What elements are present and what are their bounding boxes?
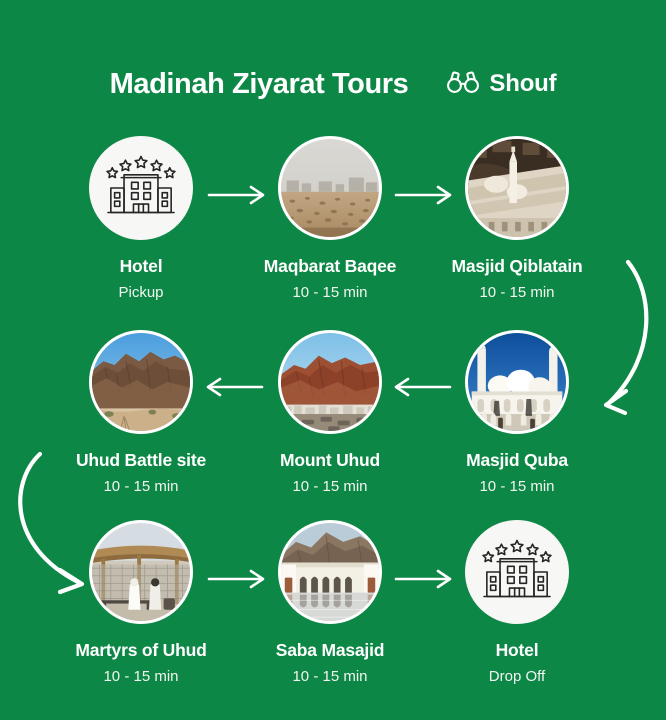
mountain-desert-photo	[89, 330, 193, 434]
tour-stop-label: Saba Masajid	[276, 640, 384, 661]
mosque-aerial-photo	[465, 136, 569, 240]
canopy-shelter-photo	[89, 520, 193, 624]
tour-stop-label: Masjid Qiblatain	[452, 256, 583, 277]
brand-name: Shouf	[489, 70, 556, 98]
arrow-right-row3-2	[392, 567, 458, 591]
tour-stop-duration: Drop Off	[489, 668, 545, 685]
arrow-left-row2-2	[388, 375, 454, 399]
tour-stop[interactable]: Masjid Qiblatain 10 - 15 min	[424, 136, 610, 306]
arrow-curve-row2-to-row3	[2, 450, 102, 600]
tour-stop[interactable]: Masjid Quba 10 - 15 min	[424, 330, 610, 500]
tour-stop-duration: 10 - 15 min	[292, 668, 367, 685]
arrow-left-row2-1	[200, 375, 266, 399]
tour-row-1: Hotel Pickup	[0, 136, 666, 306]
tour-stop[interactable]: Maqbarat Baqee 10 - 15 min	[237, 136, 423, 306]
white-mosque-photo	[465, 330, 569, 434]
arrow-right-row1-1	[205, 183, 271, 207]
tour-stop-label: Hotel	[496, 640, 539, 661]
tour-stop-duration: 10 - 15 min	[103, 668, 178, 685]
header: Madinah Ziyarat Tours Shouf	[0, 58, 666, 110]
tour-stop-label: Maqbarat Baqee	[264, 256, 396, 277]
tour-stop-duration: Pickup	[118, 284, 163, 301]
hotel-stars-icon	[89, 136, 193, 240]
tour-stop[interactable]: Saba Masajid 10 - 15 min	[237, 520, 423, 690]
tour-stop-label: Masjid Quba	[466, 450, 568, 471]
brand-logo: Shouf	[446, 70, 556, 99]
arrow-curve-row1-to-row2	[592, 258, 666, 416]
arcade-mosque-photo	[278, 520, 382, 624]
cemetery-photo	[278, 136, 382, 240]
tour-stop[interactable]: Hotel Drop Off	[424, 520, 610, 690]
tour-stop-duration: 10 - 15 min	[103, 478, 178, 495]
arrow-right-row3-1	[205, 567, 271, 591]
tour-stop-duration: 10 - 15 min	[292, 284, 367, 301]
binoculars-icon	[446, 70, 480, 99]
tour-stop-duration: 10 - 15 min	[292, 478, 367, 495]
tour-stop-label: Hotel	[120, 256, 163, 277]
page-title: Madinah Ziyarat Tours	[110, 68, 409, 101]
tour-stop[interactable]: Hotel Pickup	[48, 136, 234, 306]
tour-stop-duration: 10 - 15 min	[479, 284, 554, 301]
tour-stop-duration: 10 - 15 min	[479, 478, 554, 495]
arrow-right-row1-2	[392, 183, 458, 207]
tour-stop[interactable]: Mount Uhud 10 - 15 min	[237, 330, 423, 500]
tour-stop-label: Mount Uhud	[280, 450, 380, 471]
tour-infographic: Madinah Ziyarat Tours Shouf	[0, 0, 666, 720]
tour-stop-label: Martyrs of Uhud	[75, 640, 206, 661]
hotel-stars-icon	[465, 520, 569, 624]
red-mountain-photo	[278, 330, 382, 434]
